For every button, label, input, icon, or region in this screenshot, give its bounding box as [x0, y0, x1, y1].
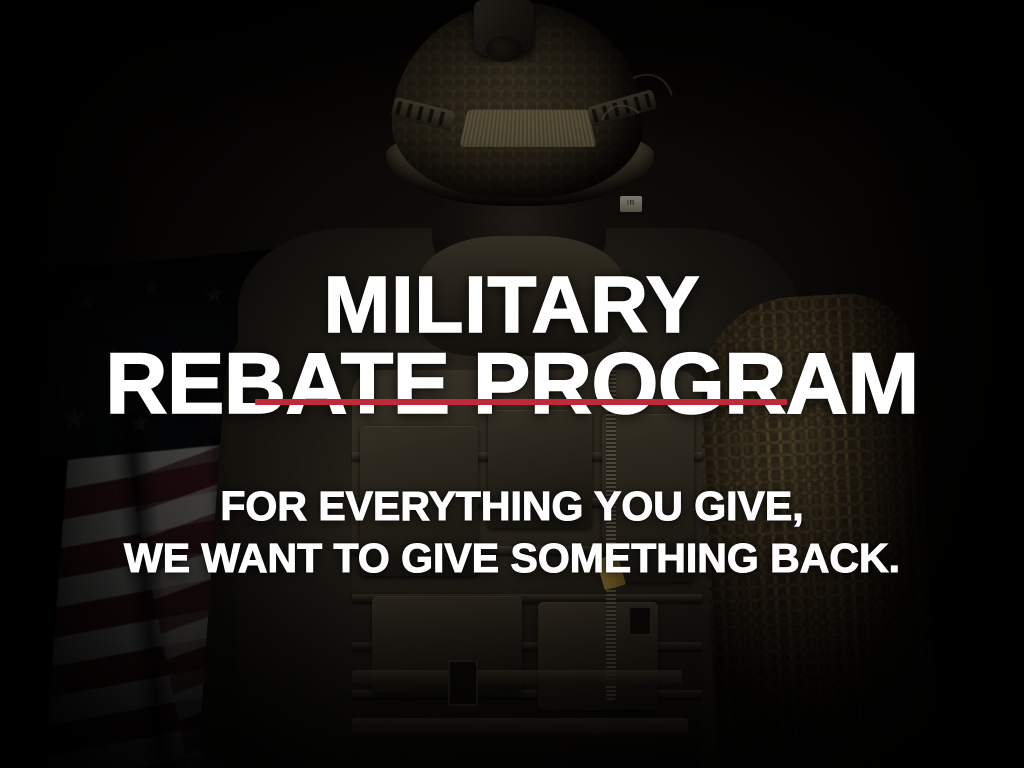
vest-zipper	[606, 370, 616, 700]
military-rebate-poster: IR MILITARY REBATE PROGRAM FOR EVERYTHIN…	[0, 0, 1024, 768]
helmet-ir-tab: IR	[620, 196, 642, 212]
vest-pouch	[488, 410, 592, 528]
soldier-neck-gaiter	[418, 236, 624, 356]
vest-strap	[352, 718, 688, 734]
vest-pouch	[360, 426, 478, 576]
nvg-knob-icon	[486, 36, 522, 62]
marpat-camo-pattern-overlay	[694, 291, 939, 768]
plate-carrier-vest	[352, 370, 702, 768]
vest-buckle	[448, 660, 478, 706]
vest-strap	[352, 670, 682, 684]
background-photo: IR	[0, 0, 1024, 768]
soldier-right-arm	[694, 291, 939, 768]
helmet-velcro-panel	[459, 110, 596, 147]
vest-buckle	[628, 606, 652, 636]
